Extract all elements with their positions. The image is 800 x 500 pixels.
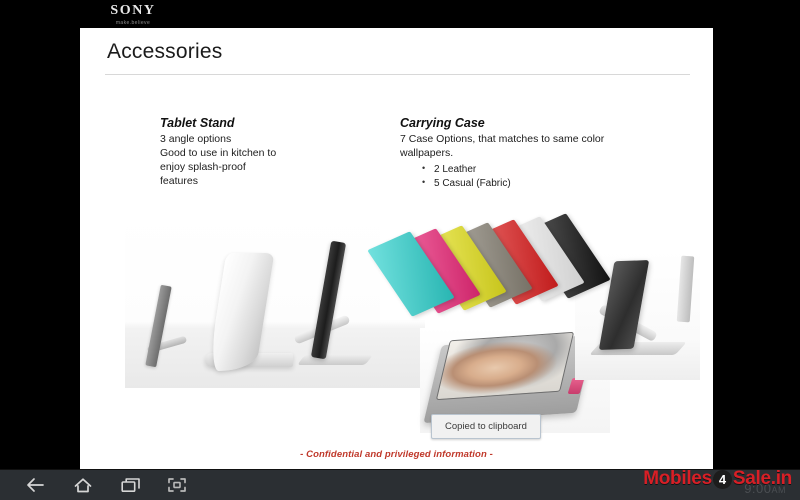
sony-tagline: make.believe <box>88 20 178 26</box>
carrying-case-body: 7 Case Options, that matches to same col… <box>400 133 650 161</box>
back-arrow-icon <box>25 477 45 493</box>
watermark-part-one: Mobiles <box>643 468 712 490</box>
sony-logo: SONY make.believe <box>88 3 178 26</box>
back-button[interactable] <box>18 474 52 496</box>
carrying-case-heading: Carrying Case <box>400 116 650 130</box>
watermark-part-two: Sale.in <box>733 468 792 490</box>
presentation-slide[interactable]: Accessories Tablet Stand 3 angle options… <box>80 28 713 470</box>
portrait-screen-image <box>436 332 574 400</box>
tablet-stand-text-block: Tablet Stand 3 angle options Good to use… <box>160 116 345 188</box>
watermark-badge: 4 <box>713 470 732 489</box>
list-item: 2 Leather <box>422 163 650 178</box>
sony-wordmark: SONY <box>88 3 178 19</box>
screenshot-button[interactable] <box>160 474 194 496</box>
confidential-footer: - Confidential and privileged informatio… <box>80 449 713 460</box>
home-icon <box>73 477 93 494</box>
page-title: Accessories <box>107 40 222 64</box>
stand-right-tablet <box>311 241 346 360</box>
home-button[interactable] <box>66 474 100 496</box>
tablet-stand-body: 3 angle options Good to use in kitchen t… <box>160 133 345 188</box>
tablet-screen: SONY make.believe Accessories Tablet Sta… <box>0 0 800 500</box>
recents-icon <box>121 477 142 493</box>
list-item: 5 Casual (Fabric) <box>422 177 650 192</box>
screenshot-frame-icon <box>167 477 187 493</box>
site-watermark: Mobiles 4 Sale.in <box>643 468 792 490</box>
title-divider <box>105 74 690 75</box>
tablet-stand-heading: Tablet Stand <box>160 116 345 130</box>
stand-right-base <box>297 355 373 365</box>
fold-side-stand <box>677 256 695 323</box>
toast-copied-to-clipboard: Copied to clipboard <box>431 414 541 439</box>
recent-apps-button[interactable] <box>114 474 148 496</box>
carrying-case-text-block: Carrying Case 7 Case Options, that match… <box>400 116 650 192</box>
stand-left-tablet <box>145 285 171 368</box>
android-navigation-bar: 9:00AM Mobiles 4 Sale.in <box>0 469 800 500</box>
carrying-case-bullet-list: 2 Leather 5 Casual (Fabric) <box>400 163 650 192</box>
